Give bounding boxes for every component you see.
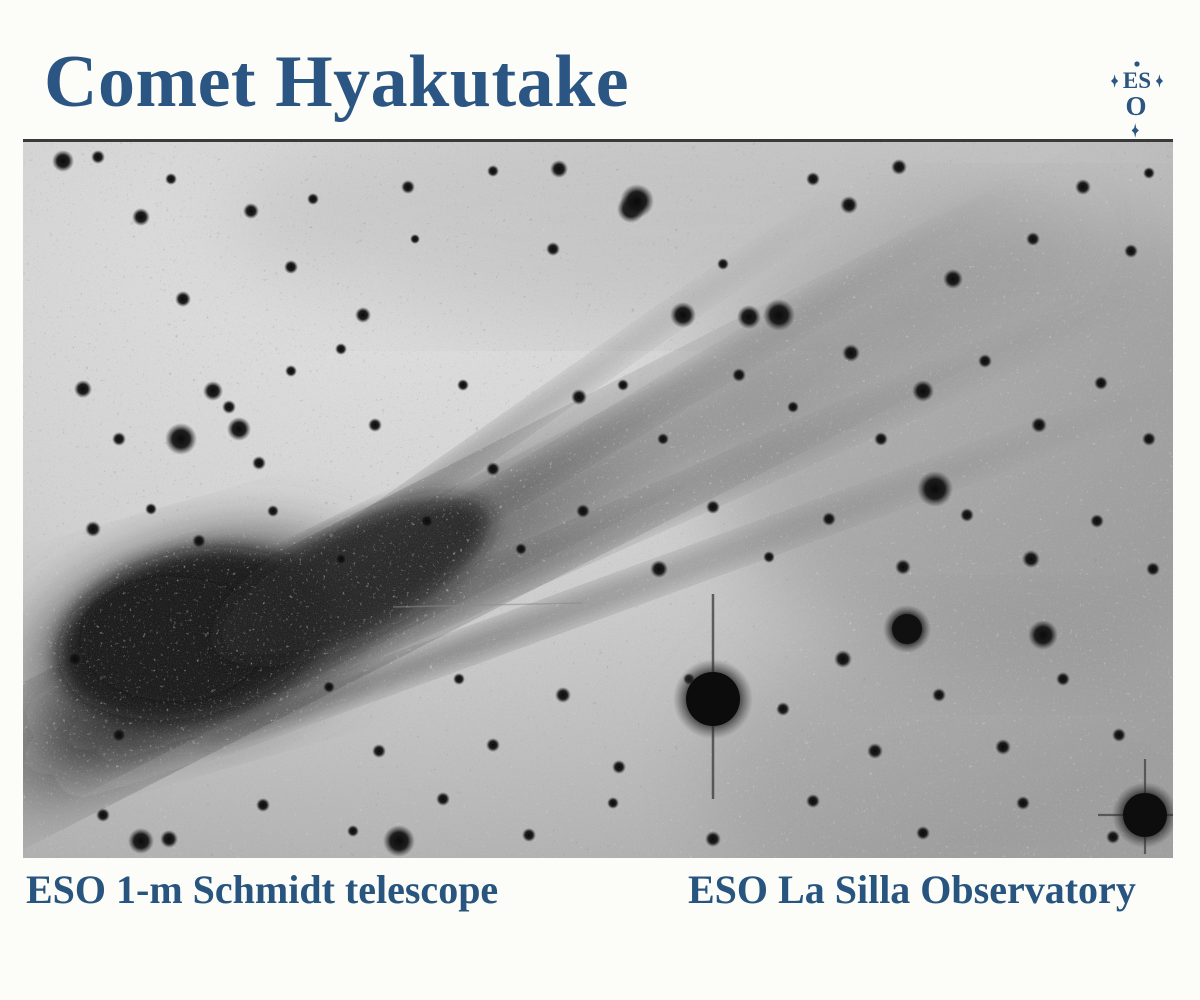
caption-row: ESO 1-m Schmidt telescope ESO La Silla O…: [0, 862, 1200, 932]
header: Comet Hyakutake ES O: [0, 0, 1200, 140]
plate-top-edge: [23, 139, 1173, 142]
page-title: Comet Hyakutake: [44, 42, 629, 122]
eso-logo: ES O: [1103, 57, 1171, 139]
caption-telescope: ESO 1-m Schmidt telescope: [26, 862, 498, 918]
logo-star-right-icon: [1156, 74, 1163, 88]
plate-canvas: [23, 139, 1173, 858]
logo-text-o: O: [1125, 91, 1146, 121]
logo-star-below-icon: [1132, 123, 1139, 138]
comet-photograph: [23, 139, 1173, 858]
logo-dot-above-icon: [1134, 61, 1139, 66]
logo-star-left-icon: [1111, 74, 1118, 88]
poster: Comet Hyakutake ES O: [0, 0, 1200, 1000]
logo-text-es: ES: [1123, 68, 1151, 93]
caption-observatory: ESO La Silla Observatory: [688, 862, 1136, 918]
